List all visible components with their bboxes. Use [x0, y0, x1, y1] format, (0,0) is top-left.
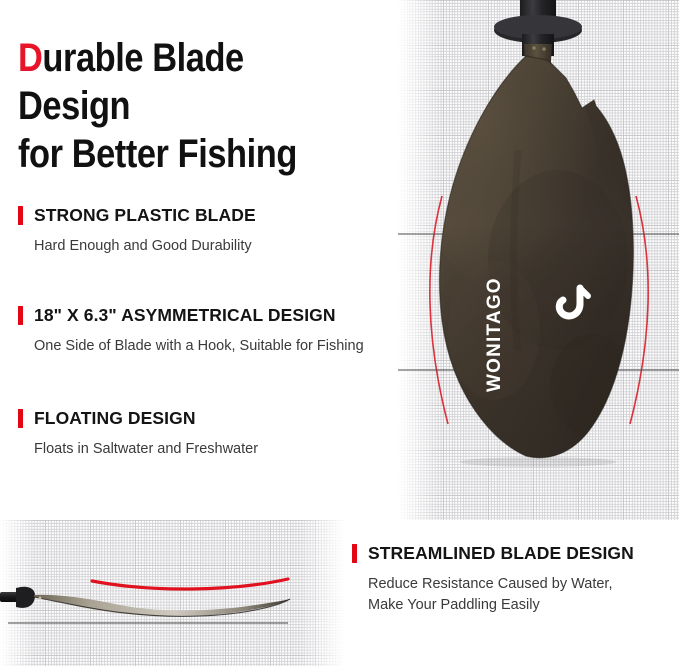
feature-heading-row: STRONG PLASTIC BLADE — [18, 205, 256, 226]
infographic-canvas: Durable Blade Designfor Better Fishing S… — [0, 0, 679, 666]
rivet-icon — [532, 46, 536, 50]
blade-edge-profile — [34, 595, 290, 617]
page-title-line1: urable Blade Design — [18, 36, 244, 128]
feature-streamlined-blade-design: STREAMLINED BLADE DESIGN Reduce Resistan… — [352, 543, 634, 616]
feature-title: FLOATING DESIGN — [34, 408, 196, 429]
feature-subtitle: Reduce Resistance Caused by Water, Make … — [368, 574, 634, 616]
page-title-initial: D — [18, 36, 42, 80]
blade-shadow — [460, 457, 616, 467]
feature-title: STREAMLINED BLADE DESIGN — [368, 543, 634, 564]
blade-body — [398, 0, 679, 500]
rivet-icon — [39, 597, 42, 600]
feature-subtitle: Hard Enough and Good Durability — [34, 236, 256, 257]
feature-subtitle: Floats in Saltwater and Freshwater — [34, 439, 258, 460]
red-bar-bullet-icon — [18, 206, 23, 225]
feature-subtitle: One Side of Blade with a Hook, Suitable … — [34, 336, 364, 357]
red-curvature-accent — [92, 579, 288, 589]
feature-heading-row: STREAMLINED BLADE DESIGN — [352, 543, 634, 564]
paddle-blade-side-profile — [0, 520, 345, 666]
drip-ring-side — [16, 587, 35, 608]
red-bar-bullet-icon — [18, 409, 23, 428]
red-bar-bullet-icon — [18, 306, 23, 325]
feature-heading-row: FLOATING DESIGN — [18, 408, 258, 429]
feature-title: 18" X 6.3" ASYMMETRICAL DESIGN — [34, 305, 336, 326]
feature-heading-row: 18" X 6.3" ASYMMETRICAL DESIGN — [18, 305, 364, 326]
feature-floating-design: FLOATING DESIGN Floats in Saltwater and … — [18, 408, 258, 460]
rivet-icon — [542, 47, 546, 51]
page-title-line2: for Better Fishing — [18, 132, 297, 176]
feature-asymmetrical-design: 18" X 6.3" ASYMMETRICAL DESIGN One Side … — [18, 305, 364, 357]
page-title: Durable Blade Designfor Better Fishing — [18, 34, 345, 178]
paddle-blade-front-view: WONITAGO — [398, 0, 679, 500]
brand-label: WONITAGO — [484, 277, 505, 392]
feature-title: STRONG PLASTIC BLADE — [34, 205, 256, 226]
feature-strong-plastic-blade: STRONG PLASTIC BLADE Hard Enough and Goo… — [18, 205, 256, 257]
red-bar-bullet-icon — [352, 544, 357, 563]
